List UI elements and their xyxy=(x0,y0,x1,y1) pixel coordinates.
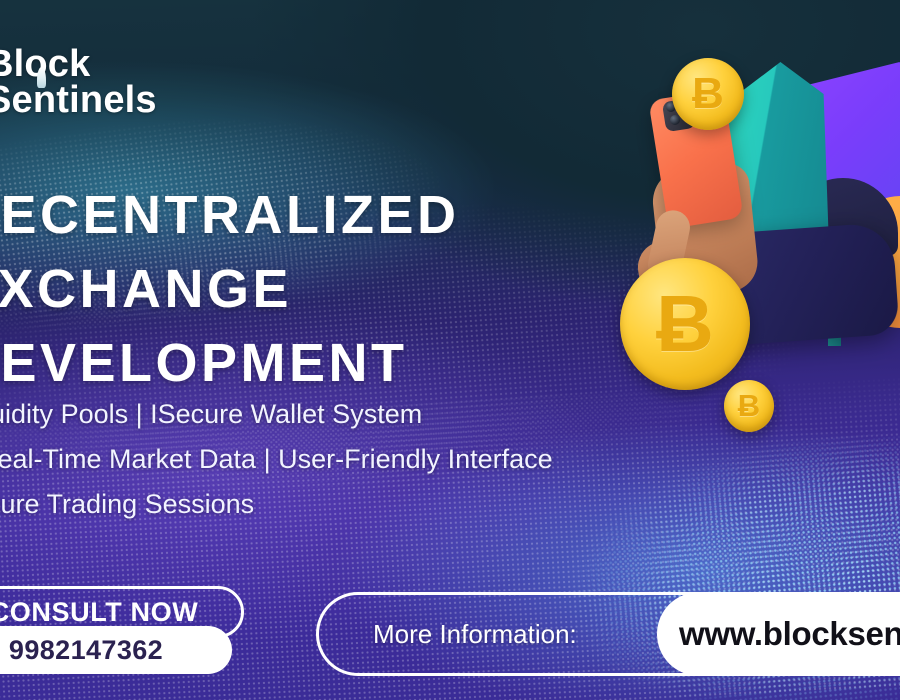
page-title: DECENTRALIZED EXCHANGE DEVELOPMENT xyxy=(0,178,460,400)
cta-block: CONSULT NOW +91 9982147362 xyxy=(0,586,244,638)
more-information-bar: More Information: www.blocksentinels.com xyxy=(316,592,900,676)
website-url-pill[interactable]: www.blocksentinels.com xyxy=(657,592,900,676)
headline-line-1: DECENTRALIZED xyxy=(0,178,460,252)
bitcoin-coin-icon: Ƀ xyxy=(672,58,744,130)
phone-number-pill[interactable]: +91 9982147362 xyxy=(0,626,232,674)
more-information-label: More Information: xyxy=(373,619,577,650)
bitcoin-coin-icon: Ƀ xyxy=(620,258,750,390)
feature-item: Secure Trading Sessions xyxy=(0,482,553,527)
brand-logo[interactable]: Block Sentinels xyxy=(0,46,157,119)
brand-logo-line-1: Block xyxy=(0,46,157,82)
feature-list: Liquidity Pools | ISecure Wallet System … xyxy=(0,392,553,527)
brand-logo-line-2: Sentinels xyxy=(0,82,157,118)
headline-line-3: DEVELOPMENT xyxy=(0,326,460,400)
bitcoin-coin-icon: Ƀ xyxy=(724,380,774,432)
camera-lens-icon xyxy=(670,115,680,125)
shield-pin-icon xyxy=(37,67,46,88)
brand-logo-line-2-text: Sentinels xyxy=(0,79,157,121)
headline-line-2: EXCHANGE xyxy=(0,252,460,326)
feature-item: Real-Time Market Data | User-Friendly In… xyxy=(0,437,553,482)
promotional-banner: Ƀ Ƀ Ƀ Block Sentinels DECENTRALIZED EXCH… xyxy=(0,0,900,700)
feature-item: Liquidity Pools | ISecure Wallet System xyxy=(0,392,553,437)
